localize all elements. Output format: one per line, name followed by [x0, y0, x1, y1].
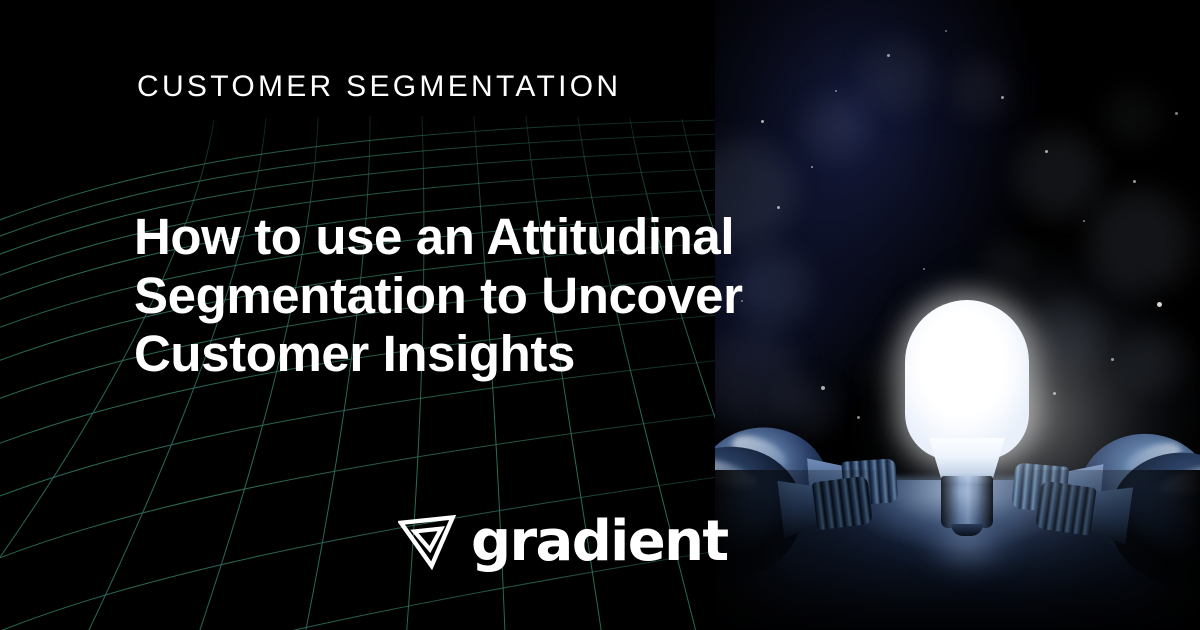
brand-logo[interactable]: gradient	[398, 510, 728, 572]
lightbulb-artwork-panel	[715, 0, 1200, 630]
blog-share-card: CUSTOMER SEGMENTATION How to use an Atti…	[0, 0, 1200, 630]
downward-triangle-chevron-icon	[398, 510, 460, 572]
logo-wordmark: gradient	[471, 514, 728, 570]
floor-vignette	[715, 470, 1200, 630]
